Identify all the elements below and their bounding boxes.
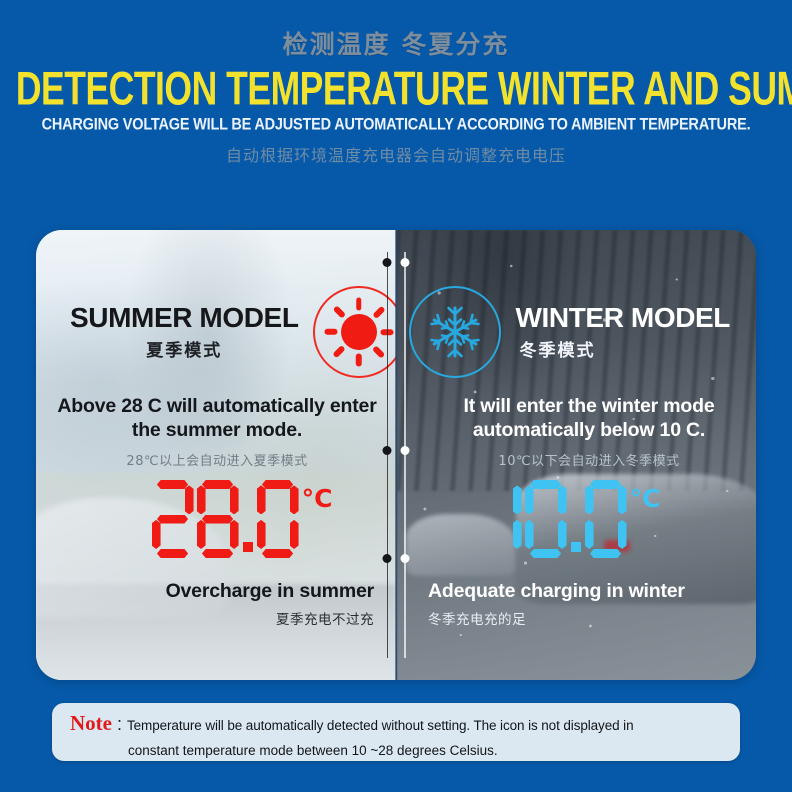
sun-ray-icon	[332, 306, 345, 319]
seven-segment-bar	[485, 480, 516, 489]
winter-content-layer: WINTER MODEL 冬季模式 It will enter the wint…	[396, 230, 756, 680]
seven-segment-decimal-point	[243, 542, 253, 552]
seven-segment-bar	[525, 485, 534, 514]
seven-segment-bar	[480, 485, 489, 514]
summer-timeline-dot	[383, 258, 392, 267]
summer-content-layer: SUMMER MODEL 夏季模式	[36, 230, 396, 680]
seven-segment-bar	[558, 520, 567, 549]
winter-timeline-dot	[400, 258, 409, 267]
winter-statement-english: It will enter the winter mode automatica…	[424, 395, 754, 443]
sun-icon	[313, 286, 396, 378]
winter-seven-segment-digits	[480, 480, 627, 558]
summer-statement-english: Above 28 C will automatically enter the …	[52, 395, 382, 443]
seven-segment-bar	[485, 515, 516, 524]
seven-segment-bar	[618, 485, 627, 514]
sun-core-icon	[341, 314, 377, 350]
summer-timeline-dot	[383, 554, 392, 563]
header-chinese-headline: 检测温度 冬夏分充	[0, 25, 792, 61]
summer-mode-panel: SUMMER MODEL 夏季模式	[36, 230, 396, 680]
seven-segment-digit	[480, 480, 522, 558]
winter-benefit-chinese: 冬季充电充的足	[428, 608, 756, 628]
header-english-subtitle: CHARGING VOLTAGE WILL BE ADJUSTED AUTOMA…	[0, 116, 792, 134]
seven-segment-digit	[585, 480, 627, 558]
winter-title-block: WINTER MODEL 冬季模式	[515, 303, 730, 361]
seven-segment-bar	[257, 485, 266, 514]
winter-timeline-dot	[400, 554, 409, 563]
seven-segment-bar	[513, 520, 522, 549]
seven-segment-bar	[185, 520, 194, 549]
summer-temperature-unit: °C	[302, 486, 333, 511]
seven-segment-bar	[590, 549, 621, 558]
winter-benefit: Adequate charging in winter 冬季充电充的足	[428, 580, 756, 628]
note-label: Note	[70, 713, 112, 734]
summer-title-chinese: 夏季模式	[70, 336, 299, 361]
winter-title-chinese: 冬季模式	[515, 336, 730, 361]
summer-temperature-readout: °C	[92, 480, 392, 558]
panel-divider	[395, 230, 397, 680]
snowflake-glyph-icon	[426, 303, 484, 361]
seven-segment-digit	[525, 480, 567, 558]
seven-segment-bar	[513, 485, 522, 514]
mode-comparison-card: SUMMER MODEL 夏季模式	[36, 230, 756, 680]
sun-ray-icon	[332, 345, 345, 358]
seven-segment-bar	[202, 549, 233, 558]
seven-segment-digit	[197, 480, 239, 558]
seven-segment-bar	[202, 515, 233, 524]
winter-temperature-unit: °C	[630, 486, 661, 511]
sun-ray-icon	[324, 329, 337, 335]
seven-segment-bar	[230, 485, 239, 514]
seven-segment-bar	[262, 480, 293, 489]
header-english-headline: DETECTION TEMPERATURE WINTER AND SUMMER	[16, 66, 776, 111]
seven-segment-bar	[530, 480, 561, 489]
winter-benefit-english: Adequate charging in winter	[428, 580, 756, 603]
seven-segment-bar	[530, 549, 561, 558]
seven-segment-digit	[152, 480, 194, 558]
seven-segment-bar	[585, 485, 594, 514]
seven-segment-bar	[480, 520, 489, 549]
seven-segment-bar	[152, 520, 161, 549]
winter-statement: It will enter the winter mode automatica…	[424, 395, 754, 469]
seven-segment-bar	[590, 515, 621, 524]
summer-title-block: SUMMER MODEL 夏季模式	[70, 303, 299, 361]
snowflake-icon	[409, 286, 501, 378]
note-first-line: Note : Temperature will be automatically…	[70, 713, 724, 735]
seven-segment-bar	[230, 520, 239, 549]
seven-segment-digit	[257, 480, 299, 558]
seven-segment-bar	[257, 520, 266, 549]
seven-segment-bar	[262, 515, 293, 524]
winter-statement-chinese: 10℃以下会自动进入冬季模式	[424, 450, 754, 469]
summer-title-row: SUMMER MODEL 夏季模式	[70, 286, 396, 378]
seven-segment-bar	[262, 549, 293, 558]
winter-temperature-readout: °C	[420, 480, 720, 558]
sun-ray-icon	[372, 306, 385, 319]
winter-mode-panel: WINTER MODEL 冬季模式 It will enter the wint…	[396, 230, 756, 680]
winter-timeline	[404, 252, 406, 658]
seven-segment-bar	[157, 515, 188, 524]
seven-segment-decimal-point	[571, 542, 581, 552]
summer-timeline-dot	[383, 446, 392, 455]
sun-ray-icon	[356, 298, 362, 311]
header-banner: 检测温度 冬夏分充 DETECTION TEMPERATURE WINTER A…	[0, 0, 792, 190]
note-colon: :	[117, 714, 122, 735]
sun-ray-icon	[356, 354, 362, 367]
seven-segment-bar	[152, 485, 161, 514]
infographic-root: 检测温度 冬夏分充 DETECTION TEMPERATURE WINTER A…	[0, 0, 792, 792]
summer-statement-chinese: 28℃以上会自动进入夏季模式	[52, 450, 382, 469]
summer-statement: Above 28 C will automatically enter the …	[52, 395, 382, 469]
seven-segment-bar	[290, 485, 299, 514]
seven-segment-bar	[485, 549, 516, 558]
seven-segment-bar	[558, 485, 567, 514]
winter-timeline-dot	[400, 446, 409, 455]
winter-title-english: WINTER MODEL	[515, 303, 730, 332]
seven-segment-bar	[530, 515, 561, 524]
summer-seven-segment-digits	[152, 480, 299, 558]
seven-segment-bar	[525, 520, 534, 549]
seven-segment-bar	[157, 549, 188, 558]
note-text-line-1: Temperature will be automatically detect…	[127, 718, 633, 733]
seven-segment-bar	[185, 485, 194, 514]
summer-benefit: Overcharge in summer 夏季充电不过充	[44, 580, 392, 628]
seven-segment-bar	[290, 520, 299, 549]
seven-segment-bar	[585, 520, 594, 549]
note-text-line-2: constant temperature mode between 10 ~28…	[70, 743, 724, 758]
summer-benefit-english: Overcharge in summer	[44, 580, 374, 603]
winter-title-row: WINTER MODEL 冬季模式	[409, 286, 730, 378]
seven-segment-bar	[618, 520, 627, 549]
seven-segment-bar	[157, 480, 188, 489]
seven-segment-bar	[590, 480, 621, 489]
note-box: Note : Temperature will be automatically…	[52, 703, 740, 761]
summer-benefit-chinese: 夏季充电不过充	[44, 608, 374, 628]
seven-segment-bar	[197, 485, 206, 514]
header-chinese-subtitle: 自动根据环境温度充电器会自动调整充电电压	[0, 142, 792, 166]
sun-ray-icon	[372, 345, 385, 358]
seven-segment-bar	[197, 520, 206, 549]
seven-segment-bar	[202, 480, 233, 489]
summer-title-english: SUMMER MODEL	[70, 303, 299, 332]
